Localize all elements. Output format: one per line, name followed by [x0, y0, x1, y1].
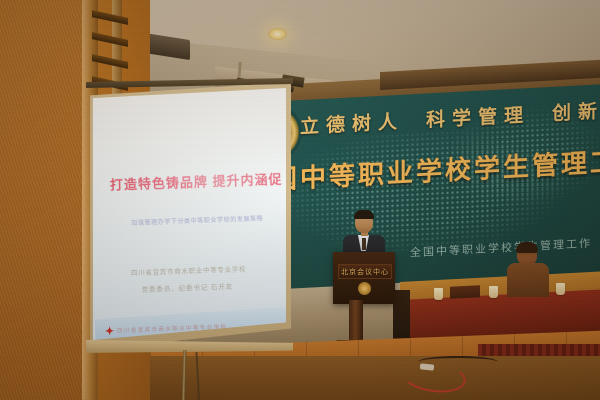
podium-column [349, 300, 363, 344]
water-cup [556, 283, 565, 295]
speaker-person [341, 210, 387, 258]
speaker-hair [354, 210, 374, 219]
podium-emblem-icon [358, 282, 371, 295]
water-cup [434, 288, 443, 300]
podium: 北京会议中心 [333, 252, 395, 304]
ceiling-downlight [268, 28, 287, 40]
podium-nameplate: 北京会议中心 [338, 264, 392, 279]
slide-organization: 四川省宜宾市商水职业中等专业学校 [131, 261, 301, 277]
seated-official-hair [516, 242, 538, 253]
school-logo-icon: ✦ [105, 327, 115, 338]
table-nameplate [450, 285, 480, 299]
projection-screen: 打造特色铸品牌 提升内涵促发展 加强管理办学下分类中等职业学校的发展策略 四川省… [86, 82, 291, 367]
wall-rung [92, 32, 128, 47]
seated-official-body [507, 263, 549, 297]
speaker-tie [362, 238, 366, 250]
conference-photo: 立德树人科学管理创新发展 全国中等职业学校学生管理工作会 全国中等职业学校学生管… [0, 0, 600, 400]
screen-surface: 打造特色铸品牌 提升内涵促发展 加强管理办学下分类中等职业学校的发展策略 四川省… [89, 88, 286, 340]
av-loudspeaker [393, 290, 410, 344]
banner-slogan-phrase-1: 立德树人 [300, 112, 404, 138]
banner-slogan-phrase-3: 创新发展 [552, 98, 600, 124]
left-wall-texture [0, 0, 82, 400]
banner-slogan-phrase-2: 科学管理 [426, 105, 530, 131]
slide-title: 打造特色铸品牌 提升内涵促发展 [110, 169, 283, 194]
presentation-slide: 打造特色铸品牌 提升内涵促发展 加强管理办学下分类中等职业学校的发展策略 四川省… [85, 85, 291, 344]
wall-rung [92, 10, 128, 25]
screen-bottom-bar [84, 340, 293, 353]
wall-rung [92, 54, 128, 69]
slide-subtitle: 加强管理办学下分类中等职业学校的发展策略 [131, 212, 291, 227]
water-cup [489, 286, 498, 298]
slide-presenter: 党委委员、纪委书记 石开友 [141, 278, 301, 294]
seated-official [505, 244, 551, 296]
